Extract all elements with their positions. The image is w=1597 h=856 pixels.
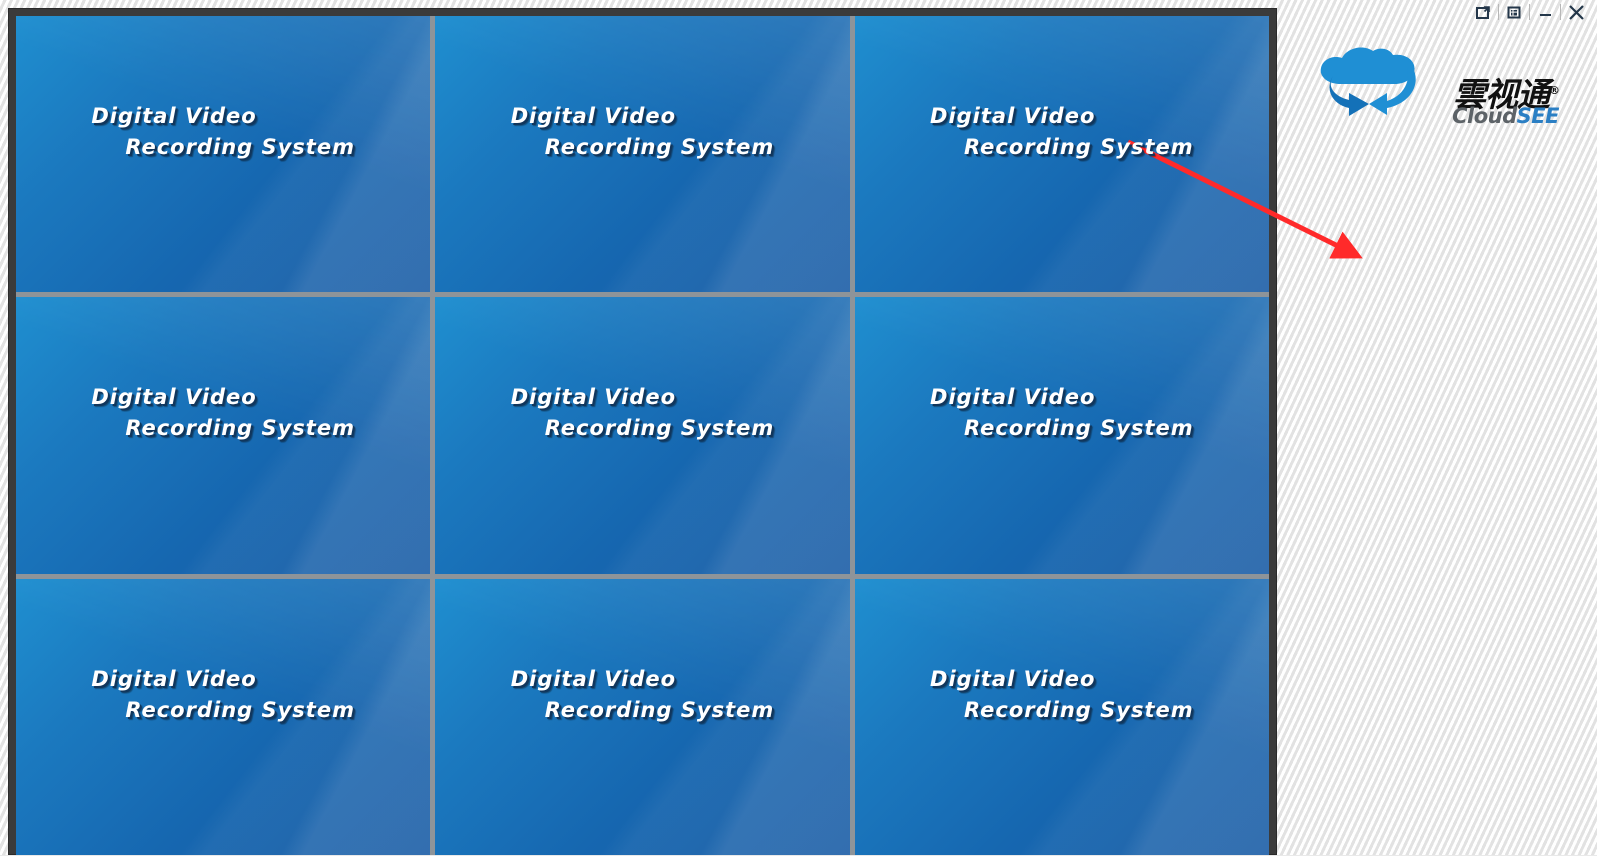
video-cell[interactable]: Digital VideoRecording System xyxy=(855,297,1269,573)
video-wall-grid: Digital VideoRecording SystemDigital Vid… xyxy=(16,16,1269,855)
video-cell[interactable]: Digital VideoRecording System xyxy=(16,297,430,573)
video-cell[interactable]: Digital VideoRecording System xyxy=(435,579,849,855)
logo-english-text: CloudSEE xyxy=(1452,104,1559,128)
video-text-line2: Recording System xyxy=(511,132,775,163)
video-cell[interactable]: Digital VideoRecording System xyxy=(435,16,849,292)
video-cell[interactable]: Digital VideoRecording System xyxy=(855,16,1269,292)
video-text-line2: Recording System xyxy=(511,413,775,444)
video-cell[interactable]: Digital VideoRecording System xyxy=(16,16,430,292)
video-text-line1: Digital Video xyxy=(930,667,1095,691)
logo-registered-mark: ® xyxy=(1549,84,1559,97)
logo-en-see: SEE xyxy=(1517,104,1559,128)
video-text-line2: Recording System xyxy=(511,695,775,726)
video-text-line2: Recording System xyxy=(91,695,355,726)
video-placeholder-text: Digital VideoRecording System xyxy=(930,101,1194,163)
video-placeholder-text: Digital VideoRecording System xyxy=(91,382,355,444)
video-text-line1: Digital Video xyxy=(511,104,676,128)
video-text-line1: Digital Video xyxy=(511,385,676,409)
video-text-line2: Recording System xyxy=(91,132,355,163)
cloudsee-logo: 雲视通® CloudSEE xyxy=(1307,46,1573,132)
video-text-line1: Digital Video xyxy=(930,104,1095,128)
video-text-line2: Recording System xyxy=(930,132,1194,163)
video-placeholder-text: Digital VideoRecording System xyxy=(930,382,1194,444)
video-text-line1: Digital Video xyxy=(91,104,256,128)
video-text-line2: Recording System xyxy=(930,413,1194,444)
video-text-line1: Digital Video xyxy=(91,667,256,691)
video-cell[interactable]: Digital VideoRecording System xyxy=(855,579,1269,855)
video-text-line1: Digital Video xyxy=(930,385,1095,409)
video-text-line2: Recording System xyxy=(930,695,1194,726)
video-text-line1: Digital Video xyxy=(511,667,676,691)
video-placeholder-text: Digital VideoRecording System xyxy=(91,664,355,726)
control-panel: 雲视通® CloudSEE 全部连接全部断开全部录像录像全停现场拍照系统设置录像… xyxy=(1283,0,1597,855)
video-placeholder-text: Digital VideoRecording System xyxy=(930,664,1194,726)
video-placeholder-text: Digital VideoRecording System xyxy=(511,382,775,444)
video-placeholder-text: Digital VideoRecording System xyxy=(91,101,355,163)
video-placeholder-text: Digital VideoRecording System xyxy=(511,664,775,726)
logo-en-cloud: Cloud xyxy=(1452,104,1517,128)
video-text-line1: Digital Video xyxy=(91,385,256,409)
video-text-line2: Recording System xyxy=(91,413,355,444)
video-placeholder-text: Digital VideoRecording System xyxy=(511,101,775,163)
video-cell[interactable]: Digital VideoRecording System xyxy=(435,297,849,573)
video-cell[interactable]: Digital VideoRecording System xyxy=(16,579,430,855)
